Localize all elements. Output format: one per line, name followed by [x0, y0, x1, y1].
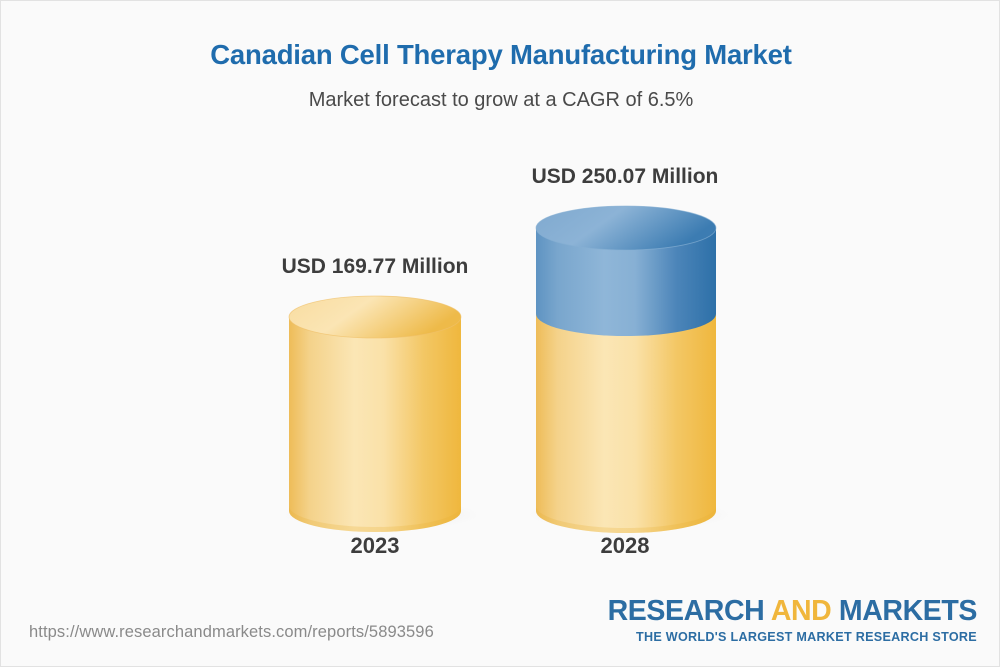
brand-logo: RESEARCH AND MARKETS THE WORLD'S LARGEST…	[608, 597, 977, 644]
bar-2028	[517, 206, 741, 533]
brand-tagline: THE WORLD'S LARGEST MARKET RESEARCH STOR…	[608, 630, 977, 644]
bar-2023	[273, 296, 489, 532]
infographic-canvas: Canadian Cell Therapy Manufacturing Mark…	[0, 0, 1000, 667]
brand-word-research: RESEARCH	[608, 595, 771, 627]
category-label-2023: 2023	[255, 533, 495, 559]
category-label-2028: 2028	[505, 533, 745, 559]
brand-word-and: AND	[771, 595, 832, 627]
cylinder-bars-graphic	[1, 1, 1000, 667]
chart-plot-area: USD 169.77 Million USD 250.07 Million 20…	[1, 1, 1000, 667]
data-label-2028: USD 250.07 Million	[505, 165, 745, 189]
source-url-link[interactable]: https://www.researchandmarkets.com/repor…	[29, 623, 434, 642]
data-label-2023: USD 169.77 Million	[255, 255, 495, 279]
brand-wordmark: RESEARCH AND MARKETS	[608, 597, 977, 627]
brand-word-markets: MARKETS	[831, 595, 977, 627]
